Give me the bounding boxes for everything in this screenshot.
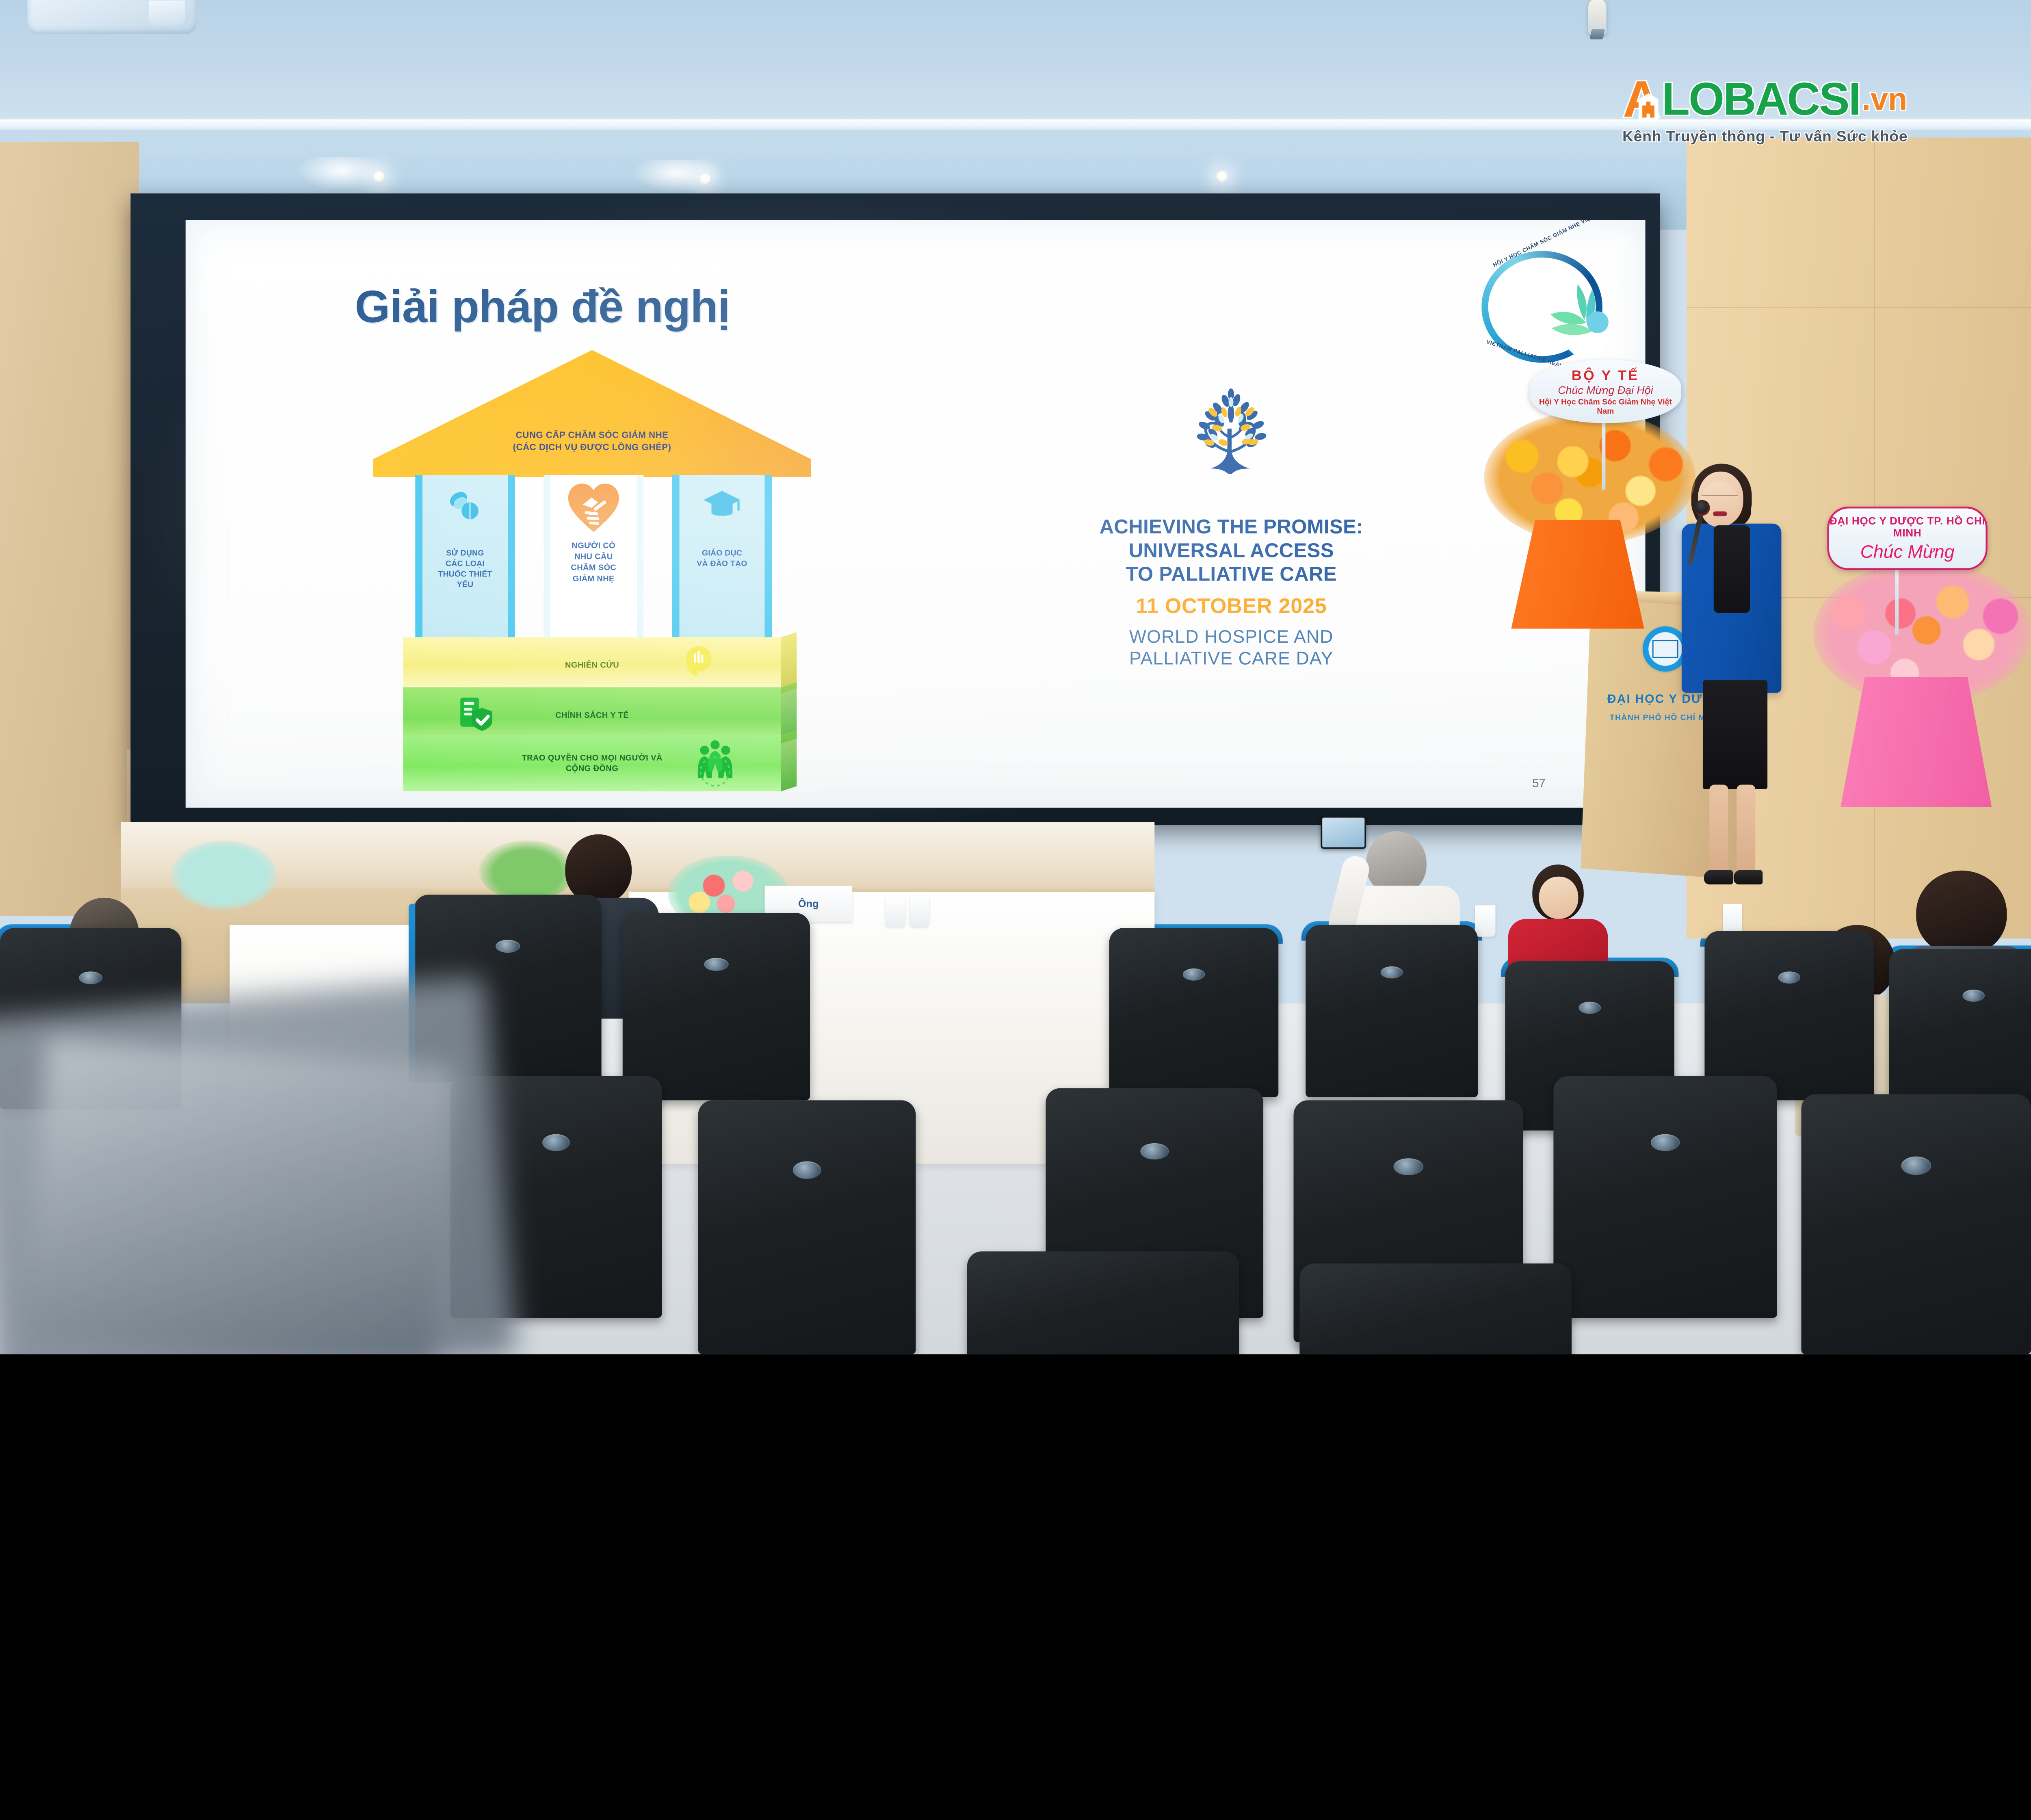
sign-stick [1895,568,1899,635]
slide-page-number: 57 [1532,776,1546,790]
chair-badge [1394,1158,1424,1175]
paper-cup [1475,905,1496,936]
pillar-label: NGƯỜI CÓNHU CẦUCHĂM SÓCGIẢM NHẸ [553,540,634,584]
watermark-logo: A LOBACSI .vn [1548,76,1983,123]
chair-badge [1183,968,1205,980]
speaker-lips [1713,511,1727,516]
pillar-people-in-need: NGƯỜI CÓNHU CẦUCHĂM SÓCGIẢM NHẸ [544,475,644,645]
ceiling-downlight [1215,169,1229,183]
auditorium-chair [623,913,810,1100]
auditorium-chair [1553,1076,1777,1318]
paper-cup [886,898,905,927]
attendee-face [1539,877,1578,919]
band-label: TRAO QUYỀN CHO MỌI NGƯỜI VÀCỘNG ĐỒNG [522,753,662,774]
chair-badge [1140,1143,1169,1159]
auditorium-chair [1109,928,1279,1097]
magnifier-chart-icon [675,643,717,687]
band-research: NGHIÊN CỨU [403,637,781,693]
presentation-slide: Giải pháp đề nghị CUNG CẤP CHĂM SÓC GIẢM… [186,220,1646,808]
house-pillars: SỬ DỤNGCÁC LOẠITHUỐC THIẾTYẾU [415,475,772,645]
chair-badge [1381,966,1403,979]
heart-handshake-icon [566,481,621,536]
ministry-of-health-sign: BỘ Y TẾ Chúc Mừng Đại Hội Hội Y Học Chăm… [1530,360,1681,423]
speaker-person [1680,472,1789,889]
speaker-shoe [1734,870,1763,884]
world-hospice-day-block: ACHIEVING THE PROMISE: UNIVERSAL ACCESS … [1008,353,1455,669]
alobacsi-watermark: A LOBACSI .vn Kênh Truyền thông - Tư vấn… [1548,76,1983,145]
whpcd-day-name: WORLD HOSPICE AND PALLIATIVE CARE DAY [1008,626,1455,669]
speaker-leg [1709,785,1728,873]
pillar-education-training: GIÁO DỤCVÀ ĐÀO TẠO [672,475,772,645]
auditorium-chair [1299,1263,1572,1354]
table-bouquet-far-left [169,840,278,931]
chair-badge [542,1134,570,1151]
slide-title: Giải pháp đề nghị [355,280,730,333]
conference-photo-scene: Giải pháp đề nghị CUNG CẤP CHĂM SÓC GIẢM… [0,0,2031,1354]
phone-screen [1322,818,1364,847]
auditorium-chair [1306,925,1478,1097]
chair-badge [1778,972,1800,984]
auditorium-chair [698,1100,916,1354]
band-side-face [781,730,797,791]
watermark-tld: .vn [1862,83,1908,115]
band-empowerment: TRAO QUYỀN CHO MỌI NGƯỜI VÀCỘNG ĐỒNG [403,735,781,791]
paper-cup [1723,904,1742,933]
band-label: CHÍNH SÁCH Y TẾ [555,710,629,721]
wall-panel-left [0,142,139,916]
house-roof-shade [373,350,811,477]
smartphone [1321,816,1366,849]
paper-cup [910,896,929,926]
chair-badge [1901,1157,1931,1175]
pillar-essential-medicines: SỬ DỤNGCÁC LOẠITHUỐC THIẾTYẾU [415,475,515,645]
speaker-skirt [1703,680,1767,789]
flower-stand-pink [1807,544,2031,816]
society-circular-text: HỘI Y HỌC CHĂM SÓC GIẢM NHẸ VIỆT NAM VIE… [1458,232,1639,374]
speaker-inner-top [1714,525,1750,613]
flower-stand-orange [1475,399,1704,635]
ceiling-spot-lamp [1588,0,1607,35]
people-community-icon [692,739,738,789]
palliative-care-house-diagram: CUNG CẤP CHĂM SÓC GIẢM NHẸ (CÁC DỊCH VỤ … [373,350,811,780]
speaker-shoe [1704,870,1733,884]
ump-hcmc-sign: ĐẠI HỌC Y DƯỢC TP. HỒ CHÍ MINH Chúc Mừng [1827,507,1988,570]
teal-wrapped-bouquet [171,840,276,910]
chair-badge [1963,990,1985,1001]
chair-badge [793,1161,821,1179]
watermark-tagline: Kênh Truyền thông - Tư vấn Sức khỏe [1548,128,1983,145]
flower-wrap-cone [1840,677,1992,807]
chair-badge [1579,1002,1601,1014]
tree-graphic [1181,383,1281,480]
whpcd-headline: ACHIEVING THE PROMISE: UNIVERSAL ACCESS … [1008,515,1455,586]
watermark-letter-a: A [1623,76,1660,123]
pillar-label: GIÁO DỤCVÀ ĐÀO TẠO [682,548,762,569]
chair-badge [704,958,728,971]
vietnam-palliative-society-logo: HỘI Y HỌC CHĂM SÓC GIẢM NHẸ VIỆT NAM VIE… [1458,232,1639,374]
auditorium-chair [1704,931,1874,1101]
foreground-blur-equipment [26,1038,455,1354]
attendee-hair [565,834,632,904]
whpcd-date: 11 OCTOBER 2025 [1008,594,1455,618]
pills-icon [447,489,483,524]
auditorium-chair [1889,949,2031,1118]
air-conditioner-vent [27,0,197,34]
chair-badge [496,940,520,953]
ceiling-light-glow [296,157,387,191]
house-roof-text: CUNG CẤP CHĂM SÓC GIẢM NHẸ (CÁC DỊCH VỤ … [373,429,811,453]
attendee-head [1366,831,1427,895]
graduation-cap-icon [702,489,742,522]
speaker-leg [1737,785,1755,873]
document-shield-icon [456,695,496,736]
led-screen-bezel: Giải pháp đề nghị CUNG CẤP CHĂM SÓC GIẢM… [130,193,1660,825]
chair-badge [1651,1134,1680,1151]
tree-of-life-icon [1147,353,1316,510]
band-label: NGHIÊN CỨU [565,660,619,671]
wall-seam [1687,307,2031,308]
sign-stick [1602,420,1605,490]
pillar-label: SỬ DỤNGCÁC LOẠITHUỐC THIẾTYẾU [425,548,505,590]
ceiling-light-glow [632,160,722,193]
auditorium-chair [1801,1094,2031,1354]
auditorium-chair [967,1251,1239,1354]
chair-badge [79,971,102,984]
attendee-hair [1916,871,2007,955]
watermark-brand: LOBACSI [1662,76,1860,122]
crest-book [1652,640,1678,658]
